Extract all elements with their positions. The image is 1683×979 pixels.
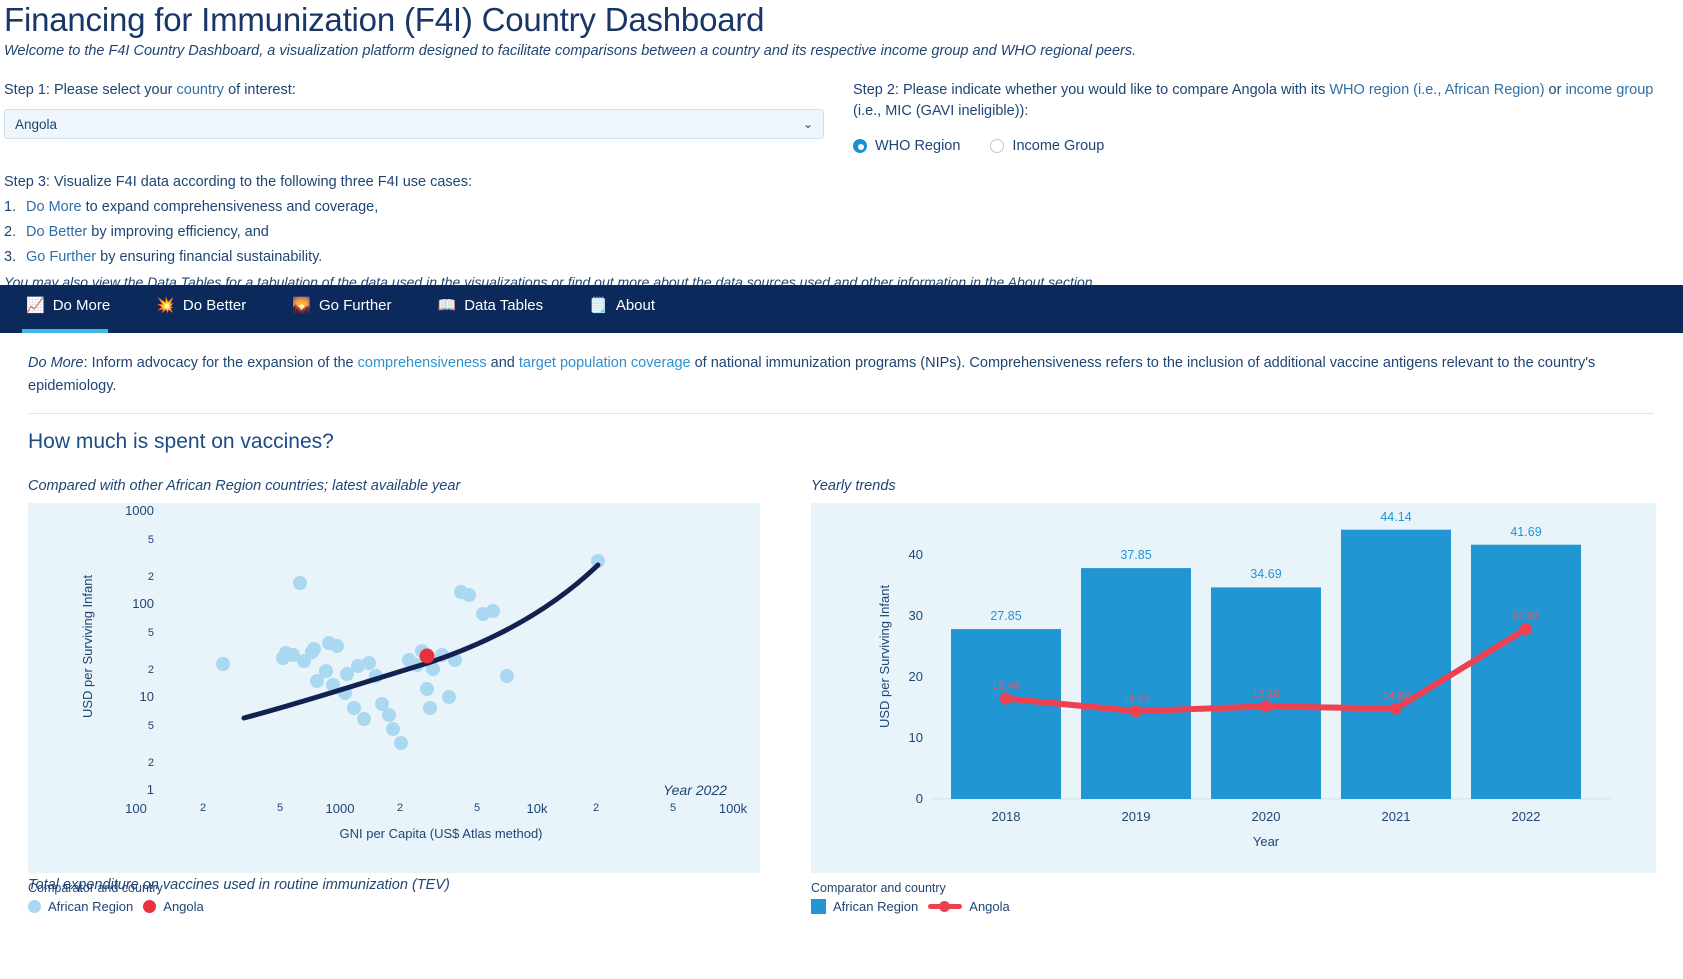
tab-data-tables[interactable]: 📖 Data Tables bbox=[434, 287, 564, 333]
tab-go-further[interactable]: 🌄 Go Further bbox=[288, 287, 411, 333]
step3-block: Step 3: Visualize F4I data according to … bbox=[0, 174, 1683, 290]
tab-do-better[interactable]: 💥 Do Better bbox=[152, 287, 266, 333]
use-case-item: 3.Go Further by ensuring financial susta… bbox=[4, 249, 1683, 265]
legend-item-comparator[interactable]: African Region bbox=[811, 899, 918, 914]
desc-text-a: : Inform advocacy for the expansion of t… bbox=[84, 355, 358, 371]
step1-label-suffix: of interest: bbox=[224, 82, 296, 98]
svg-text:USD per Surviving Infant: USD per Surviving Infant bbox=[80, 575, 95, 718]
svg-text:10: 10 bbox=[909, 730, 923, 745]
legend-item-country[interactable]: Angola bbox=[928, 899, 1009, 914]
bar-svg: 40 30 20 10 0 USD per Surviving Infant 2… bbox=[811, 503, 1656, 873]
legend-item-country[interactable]: Angola bbox=[143, 899, 203, 914]
dashboard-page: Financing for Immunization (F4I) Country… bbox=[0, 0, 1683, 979]
country-select[interactable]: Angola ⌄ bbox=[4, 109, 824, 139]
desc-link-comprehensiveness[interactable]: comprehensiveness bbox=[358, 355, 487, 371]
svg-text:27.85: 27.85 bbox=[990, 609, 1021, 623]
svg-text:1000: 1000 bbox=[326, 801, 355, 816]
scatter-caption: Compared with other African Region count… bbox=[28, 478, 760, 494]
tab-data-tables-label: Data Tables bbox=[464, 297, 543, 314]
use-case-name[interactable]: Go Further bbox=[26, 249, 96, 265]
scatter-legend-items: African Region Angola bbox=[28, 899, 760, 914]
scatter-plot[interactable]: 1000 5 2 100 5 2 10 5 2 1 USD per Surviv… bbox=[28, 503, 760, 873]
main-tabbar: 📈 Do More 💥 Do Better 🌄 Go Further 📖 Dat… bbox=[0, 285, 1683, 333]
radio-who-region-label[interactable]: WHO Region bbox=[875, 138, 960, 154]
svg-text:5: 5 bbox=[148, 534, 154, 546]
legend-label-country: Angola bbox=[163, 899, 203, 914]
svg-text:44.14: 44.14 bbox=[1380, 510, 1411, 524]
svg-text:2019: 2019 bbox=[1122, 809, 1151, 824]
tab-do-more-label: Do More bbox=[53, 297, 111, 314]
svg-text:2018: 2018 bbox=[992, 809, 1021, 824]
tab-about[interactable]: 🗒️ About bbox=[585, 287, 675, 333]
steps-row: Step 1: Please select your country of in… bbox=[0, 80, 1683, 154]
step2-highlight-income: income group bbox=[1565, 82, 1653, 98]
svg-text:2021: 2021 bbox=[1382, 809, 1411, 824]
tab-description: Do More: Inform advocacy for the expansi… bbox=[28, 352, 1656, 398]
step1-label: Step 1: Please select your country of in… bbox=[4, 80, 849, 101]
svg-text:15.18: 15.18 bbox=[1252, 688, 1280, 700]
svg-text:100: 100 bbox=[132, 596, 154, 611]
radio-income-group-label[interactable]: Income Group bbox=[1012, 138, 1104, 154]
section-title: How much is spent on vaccines? bbox=[28, 430, 334, 454]
use-case-number: 1. bbox=[4, 199, 26, 215]
use-case-item: 2.Do Better by improving efficiency, and bbox=[4, 224, 1683, 240]
step2-text-a: Step 2: Please indicate whether you woul… bbox=[853, 82, 1329, 98]
svg-text:2: 2 bbox=[148, 571, 154, 583]
svg-text:16.46: 16.46 bbox=[992, 680, 1020, 692]
use-case-number: 2. bbox=[4, 224, 26, 240]
bar-2021 bbox=[1341, 530, 1451, 799]
desc-link-coverage[interactable]: target population coverage bbox=[519, 355, 691, 371]
scatter-svg: 1000 5 2 100 5 2 10 5 2 1 USD per Surviv… bbox=[28, 503, 760, 873]
svg-text:1: 1 bbox=[147, 782, 154, 797]
bar-2018 bbox=[951, 629, 1061, 799]
step1-label-prefix: Step 1: Please select your bbox=[4, 82, 177, 98]
section-divider bbox=[28, 413, 1654, 414]
svg-text:5: 5 bbox=[148, 720, 154, 732]
tab-go-further-label: Go Further bbox=[319, 297, 392, 314]
svg-text:100k: 100k bbox=[719, 801, 748, 816]
svg-text:USD per Surviving Infant: USD per Surviving Infant bbox=[877, 585, 892, 728]
scatter-panel: Compared with other African Region count… bbox=[28, 478, 760, 914]
svg-text:2: 2 bbox=[148, 757, 154, 769]
svg-text:2: 2 bbox=[397, 802, 403, 814]
bar-caption: Yearly trends bbox=[811, 478, 1656, 494]
step1-block: Step 1: Please select your country of in… bbox=[4, 80, 849, 154]
svg-text:0: 0 bbox=[916, 791, 923, 806]
chart-increasing-icon: 📈 bbox=[26, 298, 45, 313]
step2-highlight-region: WHO region (i.e., African Region) bbox=[1329, 82, 1544, 98]
step2-block: Step 2: Please indicate whether you woul… bbox=[849, 80, 1675, 154]
bar-legend-title: Comparator and country bbox=[811, 881, 1656, 895]
svg-text:5: 5 bbox=[670, 802, 676, 814]
svg-text:14.41: 14.41 bbox=[1122, 693, 1150, 705]
svg-text:2022: 2022 bbox=[1512, 809, 1541, 824]
use-case-rest: by improving efficiency, and bbox=[87, 224, 269, 240]
legend-square-comparator-icon bbox=[811, 899, 826, 914]
svg-text:37.85: 37.85 bbox=[1120, 548, 1151, 562]
svg-text:2: 2 bbox=[593, 802, 599, 814]
svg-text:100: 100 bbox=[125, 801, 147, 816]
radio-who-region[interactable] bbox=[853, 139, 867, 153]
desc-text-b: and bbox=[487, 355, 519, 371]
bar-plot[interactable]: 40 30 20 10 0 USD per Surviving Infant 2… bbox=[811, 503, 1656, 873]
bar-legend: Comparator and country African Region An… bbox=[811, 881, 1656, 914]
use-case-rest: to expand comprehensiveness and coverage… bbox=[82, 199, 379, 215]
svg-text:27.87: 27.87 bbox=[1512, 610, 1540, 622]
svg-text:5: 5 bbox=[474, 802, 480, 814]
country-select-value: Angola bbox=[15, 117, 57, 132]
svg-text:10: 10 bbox=[140, 689, 154, 704]
bar-legend-items: African Region Angola bbox=[811, 899, 1656, 914]
desc-emphasis: Do More bbox=[28, 355, 84, 371]
scatter-points-comparator bbox=[216, 554, 605, 750]
collision-icon: 💥 bbox=[156, 298, 175, 313]
svg-text:10k: 10k bbox=[527, 801, 548, 816]
scatter-point-country bbox=[420, 649, 435, 664]
tab-do-better-label: Do Better bbox=[183, 297, 246, 314]
legend-label-comparator: African Region bbox=[833, 899, 918, 914]
use-case-item: 1.Do More to expand comprehensiveness an… bbox=[4, 199, 1683, 215]
page-title: Financing for Immunization (F4I) Country… bbox=[0, 0, 1683, 40]
svg-text:30: 30 bbox=[909, 608, 923, 623]
page-subtitle: Welcome to the F4I Country Dashboard, a … bbox=[0, 42, 1683, 60]
svg-text:2: 2 bbox=[200, 802, 206, 814]
legend-label-country: Angola bbox=[969, 899, 1009, 914]
card-index-icon: 🗒️ bbox=[589, 298, 608, 313]
step2-label: Step 2: Please indicate whether you woul… bbox=[853, 80, 1675, 122]
step1-label-highlight: country bbox=[177, 82, 225, 98]
sunrise-icon: 🌄 bbox=[292, 298, 311, 313]
svg-text:2020: 2020 bbox=[1252, 809, 1281, 824]
tab-about-label: About bbox=[616, 297, 655, 314]
bar-2022 bbox=[1471, 545, 1581, 799]
legend-item-comparator[interactable]: African Region bbox=[28, 899, 133, 914]
tab-do-more[interactable]: 📈 Do More bbox=[22, 287, 130, 333]
bar-panel: Yearly trends 40 30 20 10 0 USD per Surv… bbox=[811, 478, 1656, 914]
radio-income-group[interactable] bbox=[990, 139, 1004, 153]
step2-line2: (i.e., MIC (GAVI ineligible)): bbox=[853, 103, 1028, 119]
svg-text:Year: Year bbox=[1253, 834, 1280, 849]
svg-text:34.69: 34.69 bbox=[1250, 567, 1281, 581]
legend-dot-comparator-icon bbox=[28, 900, 41, 913]
use-case-name[interactable]: Do Better bbox=[26, 224, 87, 240]
use-case-rest: by ensuring financial sustainability. bbox=[96, 249, 322, 265]
svg-text:5: 5 bbox=[277, 802, 283, 814]
use-case-name[interactable]: Do More bbox=[26, 199, 82, 215]
svg-text:1000: 1000 bbox=[125, 503, 154, 518]
open-book-icon: 📖 bbox=[438, 298, 457, 313]
chart-footnote: Total expenditure on vaccines used in ro… bbox=[28, 877, 450, 893]
bar-2019 bbox=[1081, 568, 1191, 799]
svg-text:20: 20 bbox=[909, 669, 923, 684]
svg-text:40: 40 bbox=[909, 547, 923, 562]
legend-dot-country-icon bbox=[143, 900, 156, 913]
svg-text:Year 2022: Year 2022 bbox=[663, 782, 727, 798]
svg-text:41.69: 41.69 bbox=[1510, 525, 1541, 539]
svg-text:5: 5 bbox=[148, 627, 154, 639]
svg-text:14.82: 14.82 bbox=[1382, 690, 1410, 702]
svg-text:GNI per Capita (US$ Atlas meth: GNI per Capita (US$ Atlas method) bbox=[339, 826, 542, 841]
chevron-down-icon: ⌄ bbox=[803, 117, 813, 131]
legend-label-comparator: African Region bbox=[48, 899, 133, 914]
step3-heading: Step 3: Visualize F4I data according to … bbox=[4, 174, 1683, 190]
use-case-number: 3. bbox=[4, 249, 26, 265]
comparator-radio-group: WHO Region Income Group bbox=[853, 138, 1675, 154]
step2-text-b: or bbox=[1545, 82, 1566, 98]
legend-line-country-icon bbox=[928, 904, 962, 909]
svg-text:2: 2 bbox=[148, 664, 154, 676]
